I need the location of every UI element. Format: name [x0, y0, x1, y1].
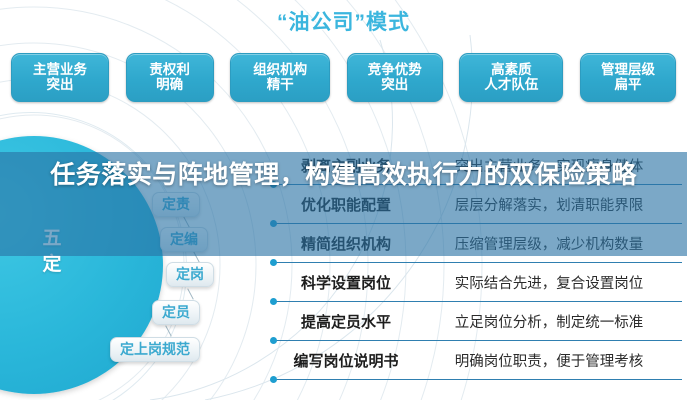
pill-line-2: 精干	[267, 78, 294, 92]
pill-line-2: 扁平	[614, 78, 641, 92]
ladder-tag-ding-shang-gang-gui-fan[interactable]: 定上岗规范	[110, 337, 200, 362]
feature-pill[interactable]: 竞争优势 突出	[347, 53, 443, 102]
measure-row-key: 科学设置岗位	[276, 272, 416, 293]
ladder-tag-ding-gang[interactable]: 定岗	[166, 262, 214, 287]
pill-line-1: 主营业务	[33, 63, 87, 77]
measure-row[interactable]: 提高定员水平 立足岗位分析，制定统一标准	[276, 302, 682, 341]
measure-row-key: 编写岗位说明书	[276, 350, 416, 371]
feature-pill[interactable]: 责权利 明确	[126, 53, 214, 102]
measure-row[interactable]: 科学设置岗位 实际结合先进，复合设置岗位	[276, 263, 682, 302]
ladder-tag-ding-yuan[interactable]: 定员	[152, 300, 200, 325]
slide-title: “油公司”模式	[0, 6, 687, 36]
measure-row[interactable]: 编写岗位说明书 明确岗位职责，便于管理考核	[276, 341, 682, 380]
pill-line-1: 高素质	[491, 63, 532, 77]
pill-line-2: 明确	[156, 78, 183, 92]
measure-row-value: 明确岗位职责，便于管理考核	[416, 350, 682, 371]
measure-row-value: 实际结合先进，复合设置岗位	[416, 272, 682, 293]
feature-pill[interactable]: 管理层级 扁平	[580, 53, 676, 102]
pill-line-1: 竞争优势	[368, 63, 422, 77]
tag-connector	[187, 288, 194, 299]
pill-line-2: 人才队伍	[484, 78, 538, 92]
bullet-dot-icon	[270, 376, 277, 383]
pill-line-1: 组织机构	[253, 63, 307, 77]
caption-text: 任务落实与阵地管理，构建高效执行力的双保险策略	[0, 158, 687, 194]
pill-line-2: 突出	[381, 78, 408, 92]
feature-pill[interactable]: 高素质 人才队伍	[459, 53, 563, 102]
pill-line-1: 管理层级	[601, 63, 655, 77]
slide-canvas: “油公司”模式 主营业务 突出 责权利 明确 组织机构 精干 竞争优势 突出 高…	[0, 0, 687, 400]
feature-pill-row: 主营业务 突出 责权利 明确 组织机构 精干 竞争优势 突出 高素质 人才队伍 …	[11, 53, 676, 102]
pill-line-2: 突出	[47, 78, 74, 92]
pill-line-1: 责权利	[149, 63, 190, 77]
feature-pill[interactable]: 组织机构 精干	[230, 53, 330, 102]
measure-row-key: 提高定员水平	[276, 311, 416, 332]
measure-row-value: 立足岗位分析，制定统一标准	[416, 311, 682, 332]
feature-pill[interactable]: 主营业务 突出	[11, 53, 109, 102]
